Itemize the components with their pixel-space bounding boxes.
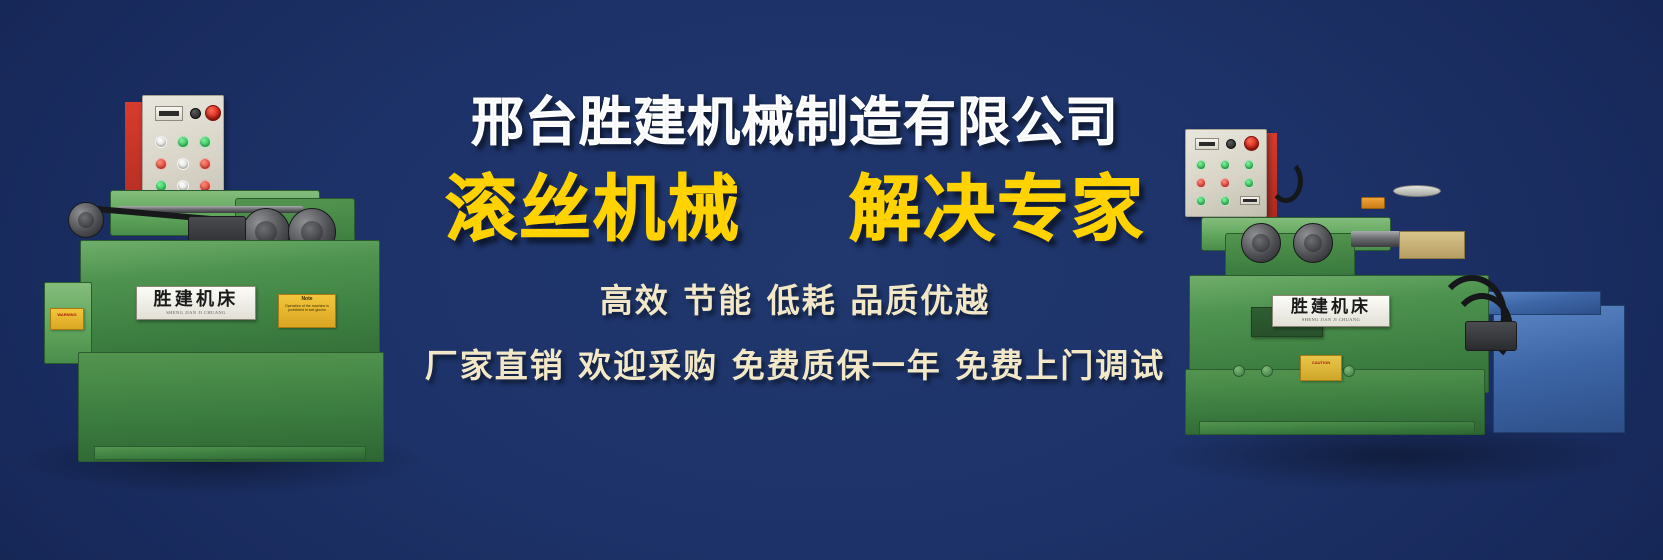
company-name: 邢台胜建机械制造有限公司 [380, 95, 1210, 151]
right-panel-button-5[interactable] [1220, 178, 1230, 188]
left-panel-button-3[interactable] [199, 136, 211, 148]
subtitle-line-2: 厂家直销 欢迎采购 免费质保一年 免费上门调试 [380, 339, 1210, 387]
right-nameplate-chinese: 胜建机床 [1291, 299, 1371, 316]
left-panel-emergency-stop-button[interactable] [205, 105, 221, 121]
left-panel-display [155, 106, 183, 121]
left-panel-button-5[interactable] [177, 158, 189, 170]
right-machine-bolt-1 [1233, 365, 1245, 377]
right-machine: 滚丝机 [1165, 125, 1663, 435]
right-machine-roller-2 [1293, 223, 1333, 263]
subtitle-line-1: 高效 节能 低耗 品质优越 [380, 274, 1210, 322]
right-machine-cable [1269, 159, 1303, 203]
right-panel-button-8[interactable] [1220, 196, 1230, 206]
left-panel-selector-knob[interactable] [190, 108, 201, 119]
left-warning-title: Note [281, 297, 333, 303]
right-machine-valve-assembly [1465, 321, 1517, 351]
right-machine-roller-1 [1241, 223, 1281, 263]
left-nameplate-pinyin: SHENG JIAN JI CHUANG [166, 311, 226, 316]
right-machine-bolt-2 [1261, 365, 1273, 377]
headline-row: 滚丝机械 解决专家 [380, 173, 1210, 246]
left-panel-button-1[interactable] [155, 136, 167, 148]
right-panel-emergency-stop-button[interactable] [1244, 136, 1259, 151]
right-machine-handwheel[interactable] [1393, 185, 1441, 197]
right-machine-foot [1199, 421, 1475, 435]
left-machine-foot [94, 446, 366, 460]
promotional-banner: 胜建机床 SHENG JIAN JI CHUANG Note Operation… [0, 0, 1663, 560]
left-panel-button-6[interactable] [199, 158, 211, 170]
left-panel-button-4[interactable] [155, 158, 167, 170]
right-machine-red-decal: CAUTION [1300, 355, 1342, 381]
right-machine-bolt-4 [1343, 365, 1355, 377]
left-machine-pulley-1 [68, 202, 104, 238]
left-machine-nameplate: 胜建机床 SHENG JIAN JI CHUANG [136, 286, 256, 320]
right-nameplate-pinyin: SHENG JIAN JI CHUANG [1302, 318, 1360, 322]
left-side-decal-text: WARNING [51, 309, 83, 318]
left-warning-body: Operation of the machine is prohibited i… [281, 304, 333, 312]
right-decal-text: CAUTION [1301, 356, 1341, 366]
right-panel-selector-knob[interactable] [1226, 139, 1236, 149]
right-panel-button-2[interactable] [1220, 160, 1230, 170]
banner-text-block: 邢台胜建机械制造有限公司 滚丝机械 解决专家 高效 节能 低耗 品质优越 厂家直… [380, 95, 1210, 387]
right-panel-button-3[interactable] [1244, 160, 1254, 170]
left-machine: 胜建机床 SHENG JIAN JI CHUANG Note Operation… [30, 90, 410, 460]
left-panel-button-2[interactable] [177, 136, 189, 148]
left-machine-warning-label: Note Operation of the machine is prohibi… [278, 294, 336, 328]
left-nameplate-chinese: 胜建机床 [154, 291, 239, 309]
right-panel-button-6[interactable] [1244, 178, 1254, 188]
right-machine-terminal-block [1361, 197, 1385, 209]
right-machine-spec-plate [1399, 231, 1465, 259]
right-panel-strip-gauge [1240, 196, 1260, 205]
right-machine-brand-plate: 胜建机床 SHENG JIAN JI CHUANG [1272, 295, 1390, 327]
headline-left: 滚丝机械 [445, 173, 741, 246]
left-machine-side-decal: WARNING [50, 308, 84, 330]
headline-right: 解决专家 [849, 173, 1145, 246]
